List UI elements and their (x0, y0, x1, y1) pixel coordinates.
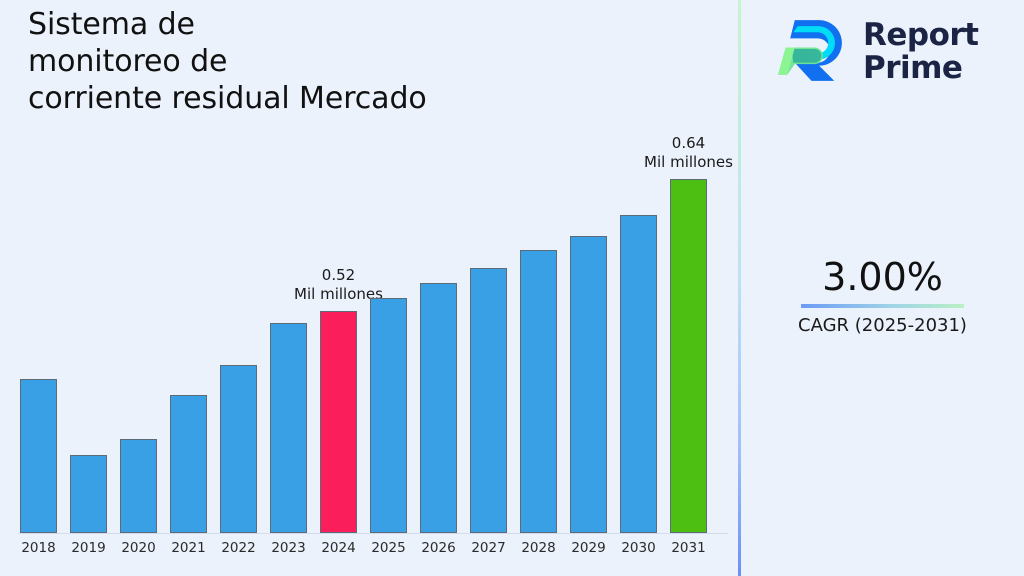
bar-2031[interactable] (670, 179, 707, 533)
bar-2024[interactable] (320, 311, 357, 533)
cagr-divider-rule (801, 304, 964, 308)
bar-2029[interactable] (570, 236, 607, 533)
bar-2027[interactable] (470, 268, 507, 533)
bar-2025[interactable] (370, 298, 407, 533)
bar-2026[interactable] (420, 283, 457, 533)
cagr-value: 3.00% (741, 254, 1024, 300)
bar-2022[interactable] (220, 365, 257, 533)
x-axis-tick-2031: 2031 (659, 540, 719, 556)
x-axis-line (18, 533, 728, 534)
bar-2028[interactable] (520, 250, 557, 533)
bar-chart-plot-area: 2018201920202021202220230.52 Mil millone… (0, 0, 739, 576)
bar-2023[interactable] (270, 323, 307, 533)
report-prime-logo[interactable]: Report Prime (775, 14, 979, 90)
bar-2020[interactable] (120, 439, 157, 533)
report-prime-logo-mark-icon (775, 14, 851, 90)
report-prime-wordmark: Report Prime (863, 19, 979, 85)
bar-2021[interactable] (170, 395, 207, 533)
cagr-caption: CAGR (2025-2031) (741, 314, 1024, 338)
cagr-block: 3.00% CAGR (2025-2031) (741, 254, 1024, 338)
chart-panel: Sistema de monitoreo de corriente residu… (0, 0, 739, 576)
bar-2030[interactable] (620, 215, 657, 533)
bar-2019[interactable] (70, 455, 107, 533)
bar-2018[interactable] (20, 379, 57, 533)
branding-panel: Report Prime 3.00% CAGR (2025-2031) (741, 0, 1024, 576)
